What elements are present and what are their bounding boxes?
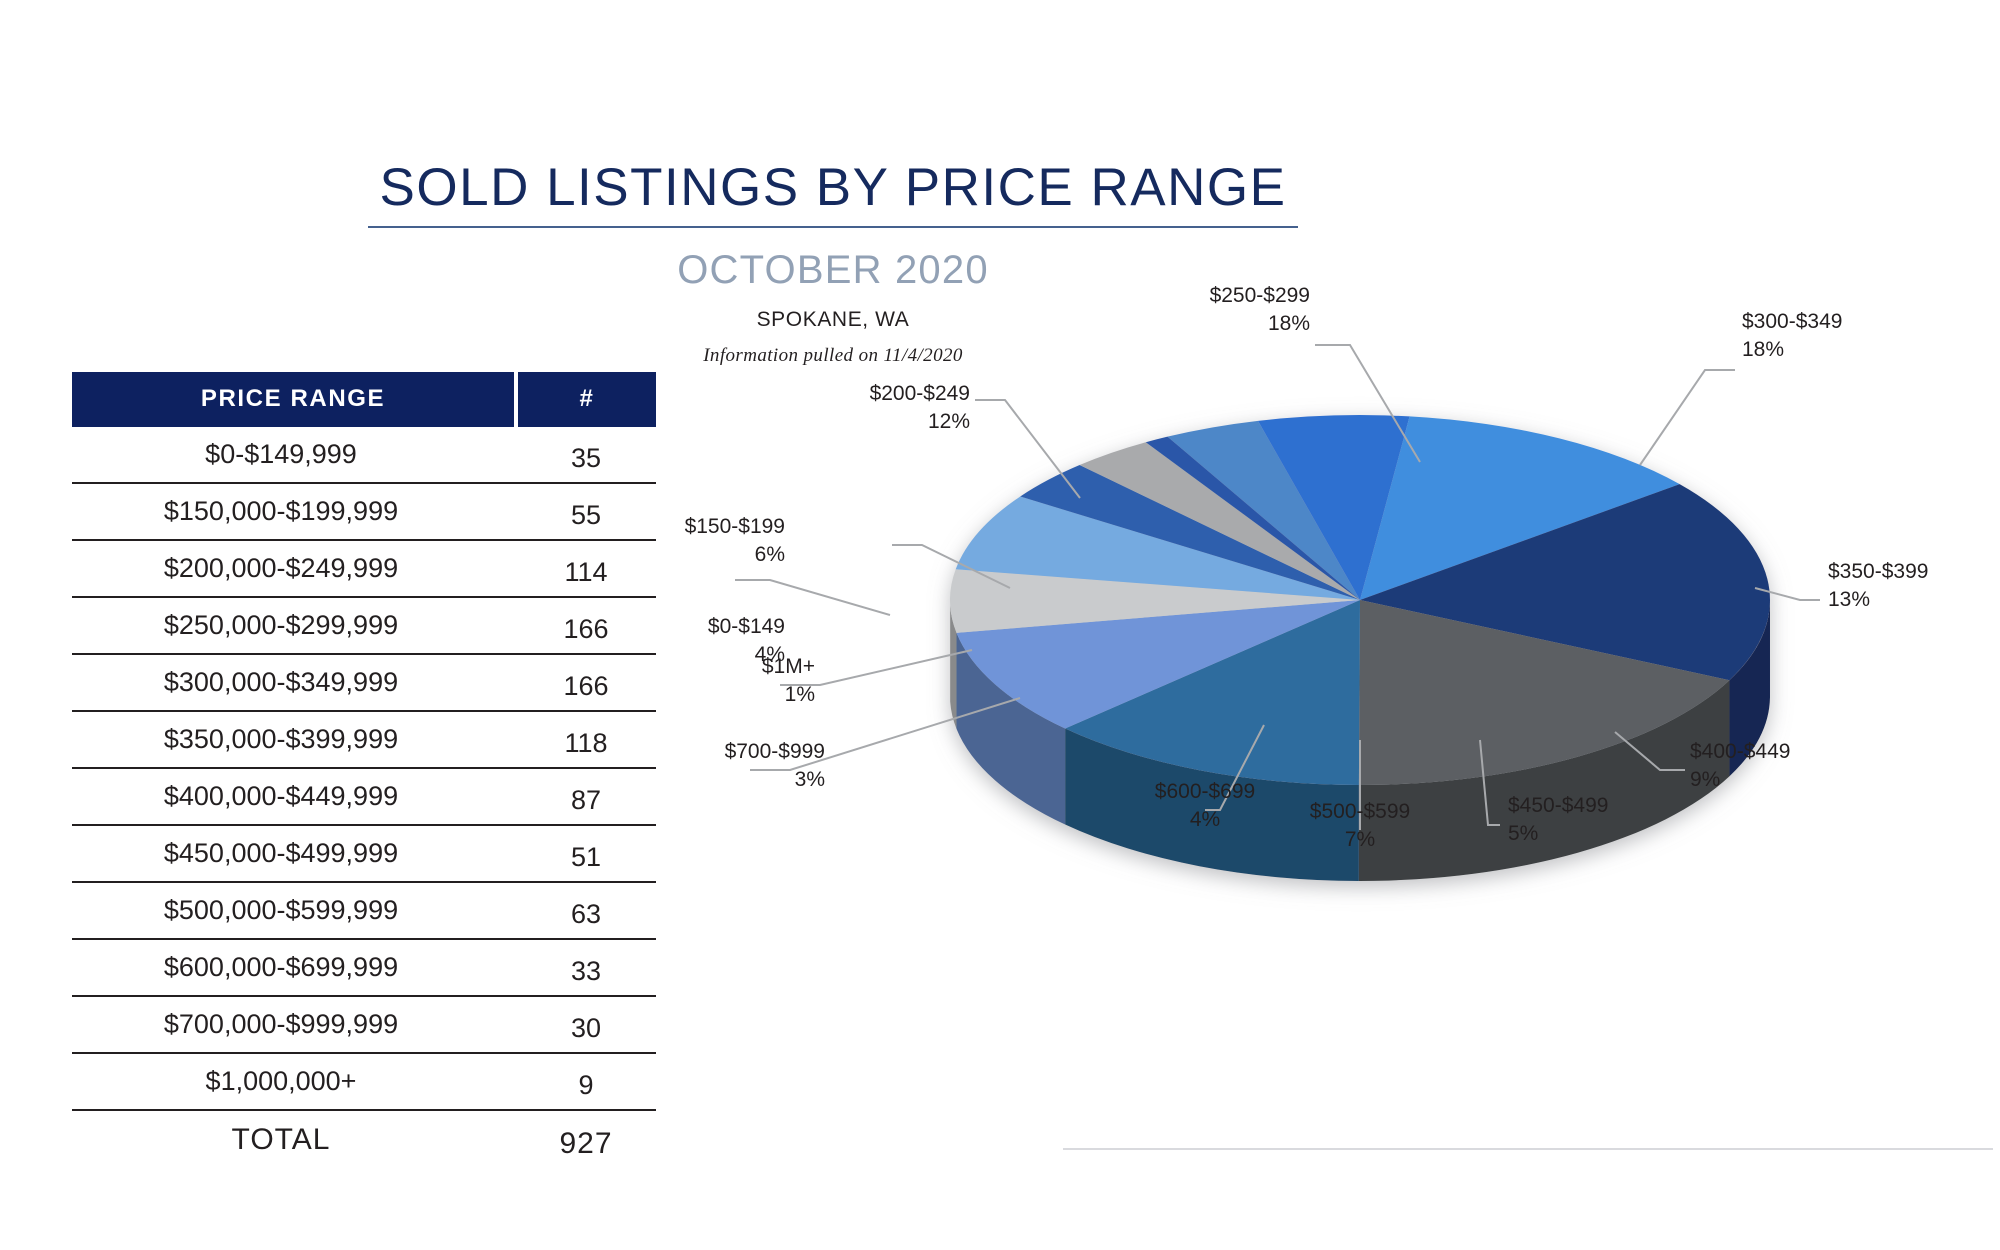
pie-label-450-499: $450-$499 5% bbox=[1508, 792, 1738, 847]
cell-price-range: $500,000-$599,999 bbox=[72, 882, 516, 939]
price-range-table: PRICE RANGE # $0-$149,99935$150,000-$199… bbox=[72, 372, 656, 1169]
title-underline bbox=[368, 226, 1298, 228]
table-header-row: PRICE RANGE # bbox=[72, 372, 656, 427]
pie-label-600-699: $600-$699 4% bbox=[1090, 778, 1320, 833]
cell-count: 35 bbox=[516, 427, 656, 483]
pie-label-700-999: $700-$999 3% bbox=[595, 738, 825, 793]
cell-price-range: $0-$149,999 bbox=[72, 427, 516, 483]
table-row: $700,000-$999,99930 bbox=[72, 996, 656, 1053]
pie-label-400-449: $400-$449 9% bbox=[1690, 738, 1920, 793]
table-row: $450,000-$499,99951 bbox=[72, 825, 656, 882]
table-row: $0-$149,99935 bbox=[72, 427, 656, 483]
table-row: $400,000-$449,99987 bbox=[72, 768, 656, 825]
cell-price-range: $300,000-$349,999 bbox=[72, 654, 516, 711]
table-total-row: TOTAL927 bbox=[72, 1110, 656, 1169]
cell-count: 30 bbox=[516, 996, 656, 1053]
pie-label-350-399: $350-$399 13% bbox=[1828, 558, 2000, 613]
total-label: TOTAL bbox=[72, 1110, 516, 1169]
cell-count: 51 bbox=[516, 825, 656, 882]
header-block: SOLD LISTINGS BY PRICE RANGE bbox=[368, 160, 1298, 228]
column-header-count: # bbox=[516, 372, 656, 427]
cell-price-range: $1,000,000+ bbox=[72, 1053, 516, 1110]
pie-label-200-249: $200-$249 12% bbox=[685, 380, 970, 435]
pie-label-250-299: $250-$299 18% bbox=[1025, 282, 1310, 337]
table-row: $1,000,000+9 bbox=[72, 1053, 656, 1110]
cell-price-range: $450,000-$499,999 bbox=[72, 825, 516, 882]
cell-price-range: $400,000-$449,999 bbox=[72, 768, 516, 825]
table-row: $600,000-$699,99933 bbox=[72, 939, 656, 996]
cell-price-range: $700,000-$999,999 bbox=[72, 996, 516, 1053]
cell-price-range: $350,000-$399,999 bbox=[72, 711, 516, 768]
cell-price-range: $150,000-$199,999 bbox=[72, 483, 516, 540]
pie-label-0-149: $0-$149 4% bbox=[565, 613, 785, 668]
pie-label-300-349: $300-$349 18% bbox=[1742, 308, 2000, 363]
cell-price-range: $250,000-$299,999 bbox=[72, 597, 516, 654]
cell-price-range: $600,000-$699,999 bbox=[72, 939, 516, 996]
pie-chart: $200-$249 12% $250-$299 18% $300-$349 18… bbox=[660, 270, 2000, 1170]
table-row: $500,000-$599,99963 bbox=[72, 882, 656, 939]
poster-canvas: SOLD LISTINGS BY PRICE RANGE OCTOBER 202… bbox=[0, 0, 2000, 1250]
cell-count: 33 bbox=[516, 939, 656, 996]
table-row: $350,000-$399,999118 bbox=[72, 711, 656, 768]
bottom-divider bbox=[1063, 1148, 1993, 1150]
page-title: SOLD LISTINGS BY PRICE RANGE bbox=[368, 160, 1298, 216]
cell-price-range: $200,000-$249,999 bbox=[72, 540, 516, 597]
cell-count: 9 bbox=[516, 1053, 656, 1110]
cell-count: 63 bbox=[516, 882, 656, 939]
column-header-price-range: PRICE RANGE bbox=[72, 372, 516, 427]
total-value: 927 bbox=[516, 1110, 656, 1169]
pie-label-150-199: $150-$199 6% bbox=[565, 513, 785, 568]
